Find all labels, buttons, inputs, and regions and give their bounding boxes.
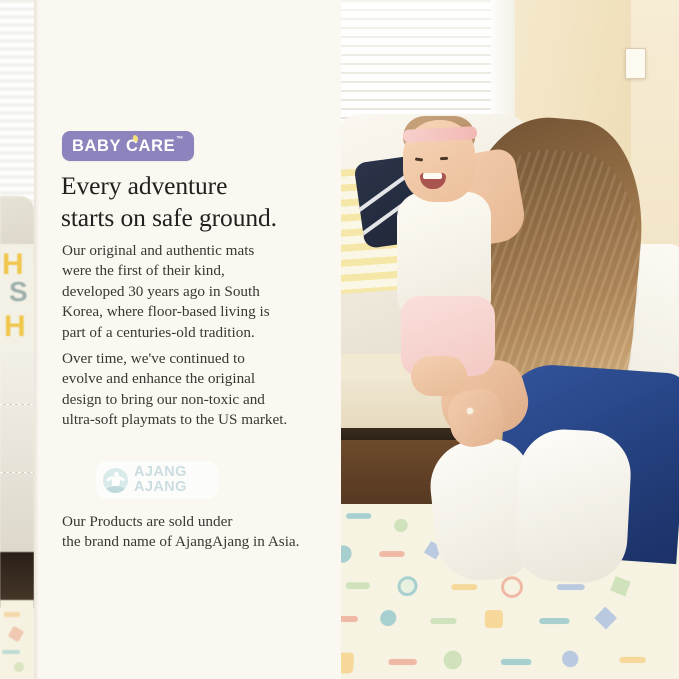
- paragraph3-line-1: Our Products are sold under: [62, 512, 324, 532]
- lifestyle-photograph: [341, 0, 679, 679]
- pillow-letter-s: S: [9, 276, 28, 308]
- wedding-ring: [467, 408, 473, 414]
- ajang-line-2: AJANG: [134, 480, 187, 495]
- headline-line-1: Every adventure: [61, 170, 329, 202]
- ajangajang-logo-text: AJANG AJANG: [134, 465, 187, 495]
- paragraph-origin: Our original and authentic mats were the…: [62, 241, 324, 343]
- paragraph1-line-2: were the first of their kind,: [62, 261, 324, 281]
- paragraph1-line-5: part of a centuries-old tradition.: [62, 323, 324, 343]
- baby-leg: [411, 356, 467, 396]
- paragraph1-line-3: developed 30 years ago in South: [62, 282, 324, 302]
- window-glare: [341, 0, 513, 128]
- headline-line-2: starts on safe ground.: [61, 202, 329, 234]
- baby-eye-right: [440, 157, 448, 161]
- mother-right-leg: [513, 427, 633, 585]
- babycare-logo-chip[interactable]: BABY CARE ™: [62, 131, 194, 161]
- left-photo-sliver: H S H: [0, 0, 34, 679]
- paragraph2-line-1: Over time, we've continued to: [62, 349, 324, 369]
- baby-teeth: [423, 173, 442, 179]
- paragraph-evolution: Over time, we've continued to evolve and…: [62, 349, 324, 431]
- light-switch-plate: [625, 48, 646, 79]
- paragraph2-line-3: design to bring our non-toxic and: [62, 390, 324, 410]
- pillow-letter-h-bottom: H: [4, 310, 26, 344]
- playmat-edge-blur: [0, 600, 34, 679]
- sofa-stitch-line-2: [0, 472, 34, 473]
- paragraph1-line-4: Korea, where floor-based living is: [62, 302, 324, 322]
- person-in-circle-icon: [103, 468, 128, 493]
- page-title: Every adventure starts on safe ground.: [61, 170, 329, 234]
- paragraph-asia-brand: Our Products are sold under the brand na…: [62, 512, 324, 553]
- text-panel: BABY CARE ™ Every adventure starts on sa…: [34, 0, 341, 679]
- paragraph2-line-4: ultra-soft playmats to the US market.: [62, 410, 324, 430]
- sofa-stitch-line-1: [0, 404, 34, 405]
- ajang-line-1: AJANG: [134, 465, 187, 480]
- ajangajang-logo-chip[interactable]: AJANG AJANG: [96, 461, 218, 499]
- product-lifestyle-poster: H S H BABY CARE ™ Every adventure starts…: [0, 0, 679, 679]
- paragraph3-line-2: the brand name of AjangAjang in Asia.: [62, 532, 324, 552]
- paragraph1-line-1: Our original and authentic mats: [62, 241, 324, 261]
- babycare-logo-text: BABY CARE: [72, 138, 175, 155]
- sofa-body-blur: [0, 352, 34, 552]
- paragraph2-line-2: evolve and enhance the original: [62, 369, 324, 389]
- trademark-symbol: ™: [176, 136, 183, 143]
